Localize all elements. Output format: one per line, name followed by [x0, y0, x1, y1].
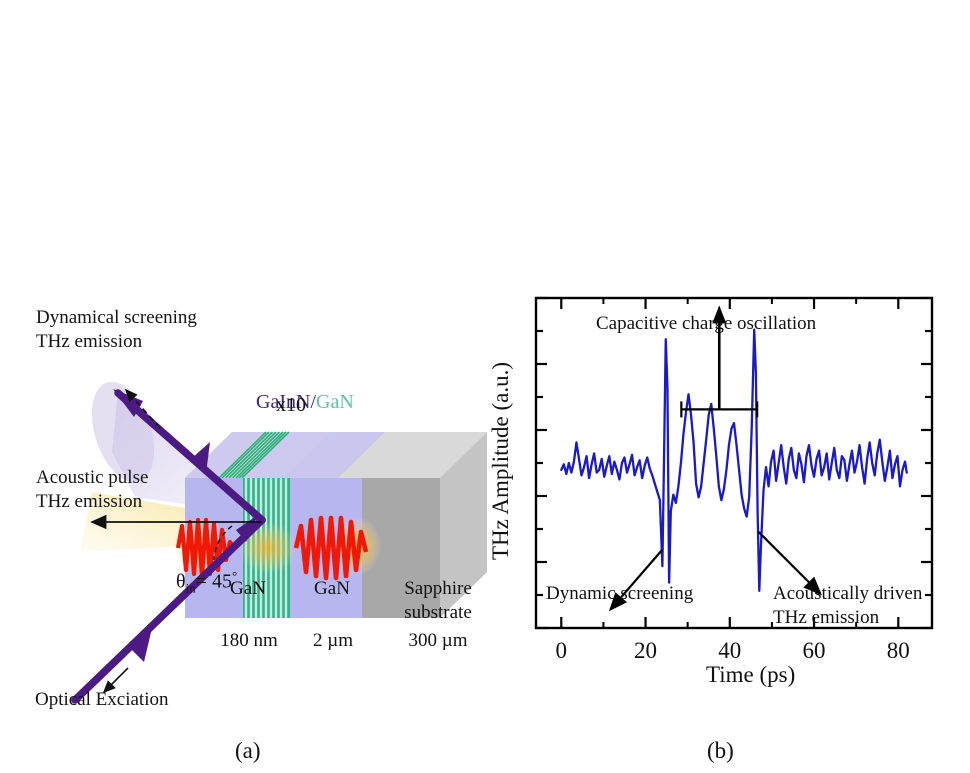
- panel-a-letter: (a): [235, 738, 261, 764]
- annotation-dynamic-screening: Dynamic screening: [546, 582, 693, 605]
- layer-label-sapphire: Sapphire: [386, 578, 490, 600]
- dynamical-screening-label-line2: THz emission: [36, 330, 142, 354]
- y-axis-label: THz Amplitude (a.u.): [488, 362, 514, 560]
- figure-root: Dynamical screening THz emission Acousti…: [0, 0, 970, 773]
- layer-thickness-gan-180nm: 180 nm: [210, 630, 288, 652]
- annotation-capacitive-oscillation: Capacitive charge oscillation: [596, 312, 816, 335]
- theta-subscript: in: [186, 581, 196, 596]
- x-axis-tick-labels: 020406080: [556, 638, 910, 663]
- theta-symbol: θ: [176, 571, 186, 593]
- svg-text:80: 80: [887, 638, 910, 663]
- svg-text:20: 20: [634, 638, 657, 663]
- superlattice-title-gan: GaN: [316, 391, 354, 413]
- layer-label-gan-2um: GaN: [300, 578, 364, 600]
- layer-thickness-gan-2um: 2 µm: [300, 630, 366, 652]
- layer-label-sapphire-line2: substrate: [386, 602, 490, 624]
- annotation-acoustic-line1: Acoustically driven: [773, 582, 922, 605]
- svg-text:40: 40: [718, 638, 741, 663]
- layer-label-gan-180nm: GaN: [216, 578, 280, 600]
- superlattice-repeat-label: x10: [276, 394, 306, 417]
- acoustic-pulse-label-line1: Acoustic pulse: [36, 466, 148, 490]
- svg-text:0: 0: [556, 638, 568, 663]
- optical-excitation-label: Optical Exciation: [35, 688, 168, 712]
- dynamical-screening-label-line1: Dynamical screening: [36, 306, 197, 330]
- acoustic-pulse-label-line2: THz emission: [36, 490, 142, 514]
- thz-waveform-chart: 020406080: [490, 288, 950, 688]
- layer-thickness-sapphire: 300 µm: [386, 630, 490, 652]
- panel-b-letter: (b): [707, 738, 734, 764]
- x-axis-label: Time (ps): [706, 662, 795, 688]
- sample-top-face: [185, 432, 487, 478]
- svg-text:60: 60: [803, 638, 826, 663]
- annotation-acoustic-line2: THz emission: [773, 606, 879, 629]
